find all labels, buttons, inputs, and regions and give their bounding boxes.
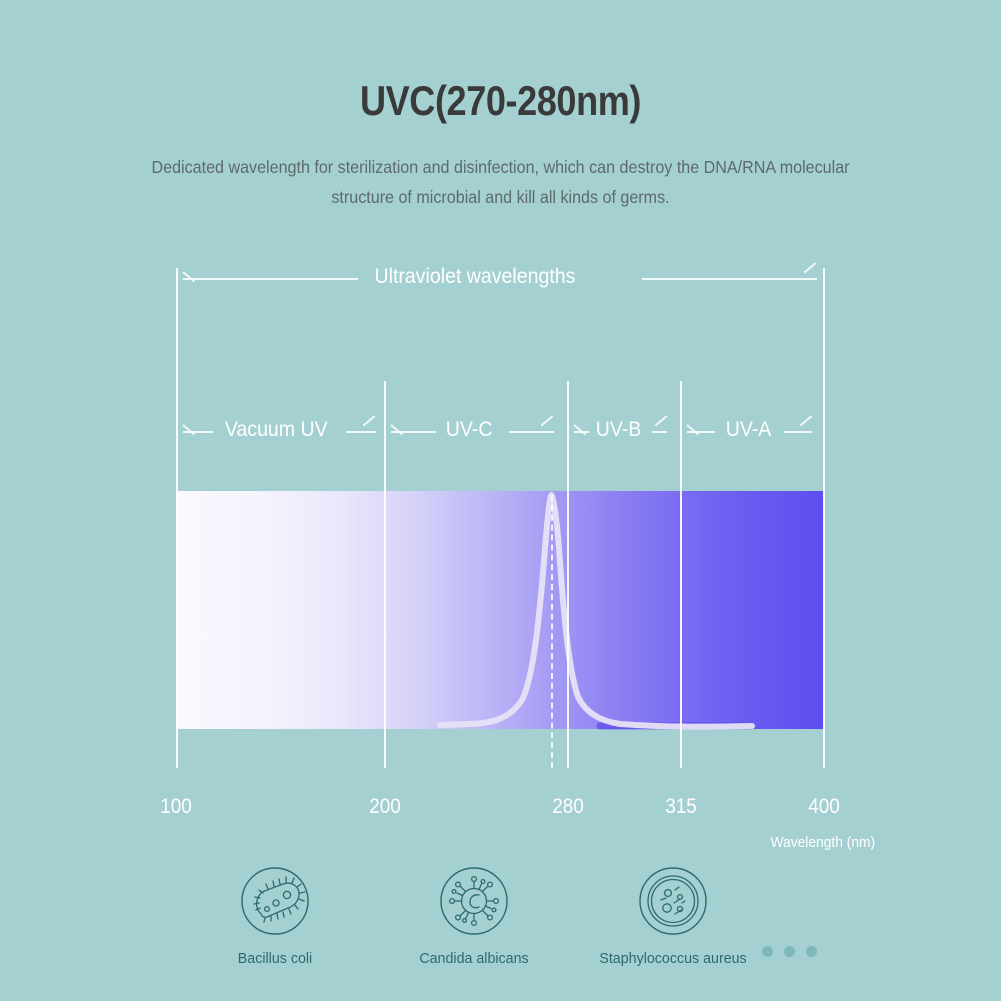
spiked-virus-icon (435, 862, 513, 940)
x-axis-caption: Wavelength (nm) (771, 834, 876, 851)
uv-span-title: Ultraviolet wavelengths (375, 265, 576, 289)
band-arrow-uvb-right (656, 424, 669, 437)
tick-label-100: 100 (140, 795, 212, 819)
band-label-uvc: UV-C (446, 418, 493, 442)
emission-curve-path (440, 495, 752, 727)
band-label-uvb: UV-B (596, 418, 642, 442)
coccus-cell-icon (634, 862, 712, 940)
rod-bacterium-icon (236, 862, 314, 940)
band-arrow-uva-left (687, 424, 700, 437)
peak-marker-dashed-line (551, 495, 553, 768)
organism-label-bacillus-coli: Bacillus coli (190, 949, 361, 968)
organism-item-candida-albicans: Candida albicans (384, 862, 564, 968)
uv-spectrum-chart: Ultraviolet wavelengths Vacuum UV UV-C (0, 0, 1001, 1001)
band-label-vacuum-uv: Vacuum UV (225, 418, 328, 442)
uv-span-line-left (183, 278, 358, 280)
tick-label-200: 200 (349, 795, 421, 819)
band-arrow-uvb-left (574, 424, 587, 437)
band-arrow-uva-right (801, 424, 814, 437)
tick-label-315: 315 (645, 795, 717, 819)
ellipsis-dot-3 (806, 946, 817, 957)
band-label-uva: UV-A (726, 418, 772, 442)
gridline-315 (680, 381, 682, 768)
band-arrow-vacuum-right (364, 424, 377, 437)
uv-span-line-right (642, 278, 817, 280)
gridline-200 (384, 381, 386, 768)
band-arrow-vacuum-left (183, 424, 196, 437)
organism-label-staphylococcus-aureus: Staphylococcus aureus (588, 949, 759, 968)
tick-label-280: 280 (532, 795, 604, 819)
tick-label-400: 400 (788, 795, 860, 819)
ellipsis-dot-1 (762, 946, 773, 957)
band-arrow-uvc-left (391, 424, 404, 437)
uv-span-arrow-right (805, 271, 818, 284)
organism-item-staphylococcus-aureus: Staphylococcus aureus (583, 862, 763, 968)
gridline-100 (176, 268, 178, 768)
organism-item-bacillus-coli: Bacillus coli (185, 862, 365, 968)
band-arrow-uvc-right (542, 424, 555, 437)
infographic-page: UVC(270-280nm) Dedicated wavelength for … (0, 0, 1001, 1001)
organism-label-candida-albicans: Candida albicans (389, 949, 560, 968)
more-organisms-ellipsis (762, 946, 817, 957)
gridline-400 (823, 268, 825, 768)
gridline-280 (567, 381, 569, 768)
ellipsis-dot-2 (784, 946, 795, 957)
uv-span-arrow-left (183, 271, 196, 284)
